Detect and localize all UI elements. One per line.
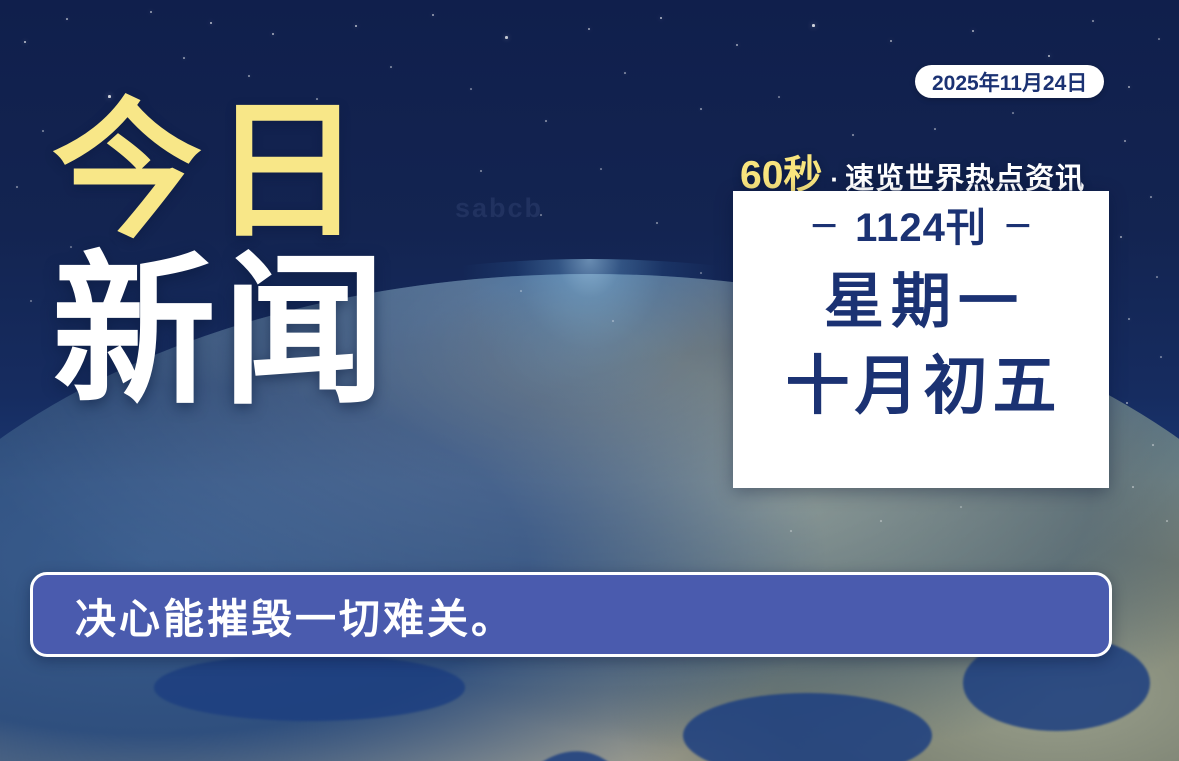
- lunar-date-label: 十月初五: [781, 353, 1062, 420]
- headline-news: 新闻: [52, 250, 482, 414]
- headline-today: 今日: [52, 96, 482, 246]
- issue-row: － 1124刊 －: [809, 208, 1033, 248]
- headline-block: 今日 新闻: [52, 96, 482, 414]
- info-card: － 1124刊 － 星期一 十月初五: [733, 191, 1109, 488]
- quote-text: 决心能摧毁一切难关。: [75, 585, 515, 645]
- issue-dash-right: －: [1003, 213, 1033, 243]
- quote-banner: 决心能摧毁一切难关。: [30, 572, 1112, 657]
- date-badge-label: 2025年11月24日: [932, 67, 1087, 97]
- issue-dash-left: －: [809, 213, 839, 243]
- issue-number: 1124刊: [855, 208, 987, 248]
- news-poster: sabcb 今日 新闻 2025年11月24日 60秒 · 速览世界热点资讯 －…: [0, 0, 1179, 761]
- weekday-label: 星期一: [817, 270, 1025, 333]
- sea-patch: [154, 654, 465, 721]
- date-badge: 2025年11月24日: [915, 65, 1104, 98]
